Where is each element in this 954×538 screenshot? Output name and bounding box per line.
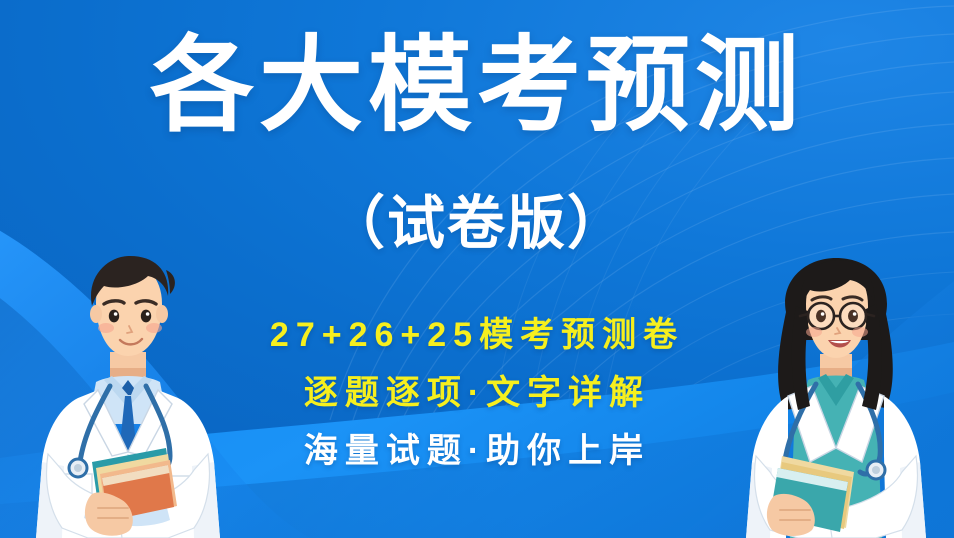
female-doctor-illustration (726, 256, 946, 538)
male-doctor-illustration (18, 256, 238, 538)
page-title: 各大模考预测 (0, 26, 954, 146)
page-subtitle: （试卷版） (0, 186, 954, 262)
promo-poster: 各大模考预测 （试卷版） 27+26+25模考预测卷 逐题逐项·文字详解 海量试… (0, 0, 954, 538)
